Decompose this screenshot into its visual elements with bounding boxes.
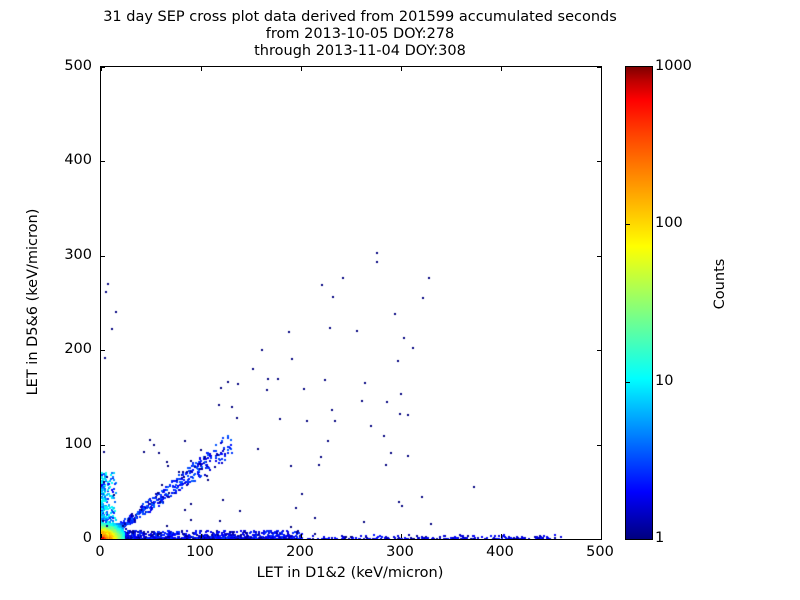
y-tick-mark (101, 539, 105, 540)
x-tick-mark-top (301, 67, 302, 71)
y-axis-label: LET in D5&6 (keV/micron) (25, 162, 41, 442)
y-tick-mark (101, 161, 105, 162)
x-tick-label: 0 (70, 544, 130, 560)
title-line-3: through 2013-11-04 DOY:308 (0, 43, 720, 60)
x-tick-mark (201, 534, 202, 538)
y-tick-mark (101, 67, 105, 68)
figure-title: 31 day SEP cross plot data derived from … (0, 9, 720, 60)
x-tick-mark (301, 534, 302, 538)
x-tick-label: 100 (170, 544, 230, 560)
colorbar-tick-label: 10 (655, 373, 673, 389)
x-tick-mark-top (401, 67, 402, 71)
x-tick-label: 300 (370, 544, 430, 560)
y-tick-label: 500 (32, 58, 92, 74)
y-tick-label: 400 (32, 152, 92, 168)
x-tick-label: 200 (270, 544, 330, 560)
x-tick-mark-top (201, 67, 202, 71)
colorbar-gradient (626, 67, 652, 539)
figure-canvas: 31 day SEP cross plot data derived from … (0, 0, 800, 600)
colorbar-tick-label: 1000 (655, 58, 692, 74)
x-tick-mark (501, 534, 502, 538)
y-tick-mark-right (597, 161, 601, 162)
colorbar-label: Counts (712, 204, 728, 364)
x-tick-mark (101, 534, 102, 538)
y-tick-label: 200 (32, 341, 92, 357)
y-tick-label: 300 (32, 247, 92, 263)
y-tick-mark (101, 256, 105, 257)
x-tick-label: 500 (570, 544, 630, 560)
x-tick-label: 400 (470, 544, 530, 560)
colorbar-tick-label: 1 (655, 530, 664, 546)
y-tick-mark (101, 350, 105, 351)
y-tick-label: 100 (32, 436, 92, 452)
y-tick-label: 0 (32, 530, 92, 546)
scatter-data-layer (101, 67, 601, 539)
x-tick-mark (601, 534, 602, 538)
colorbar (625, 66, 653, 540)
colorbar-tick-mark (626, 224, 630, 225)
y-tick-mark-right (597, 539, 601, 540)
colorbar-tick-mark (626, 382, 630, 383)
title-line-2: from 2013-10-05 DOY:278 (0, 26, 720, 43)
x-tick-mark-top (501, 67, 502, 71)
x-axis-label: LET in D1&2 (keV/micron) (100, 565, 600, 581)
x-tick-mark (401, 534, 402, 538)
colorbar-tick-label: 100 (655, 215, 683, 231)
y-tick-mark-right (597, 350, 601, 351)
y-tick-mark-right (597, 67, 601, 68)
plot-area (100, 66, 602, 540)
y-tick-mark (101, 445, 105, 446)
y-tick-mark-right (597, 256, 601, 257)
title-line-1: 31 day SEP cross plot data derived from … (0, 9, 720, 26)
y-tick-mark-right (597, 445, 601, 446)
x-tick-mark-top (601, 67, 602, 71)
